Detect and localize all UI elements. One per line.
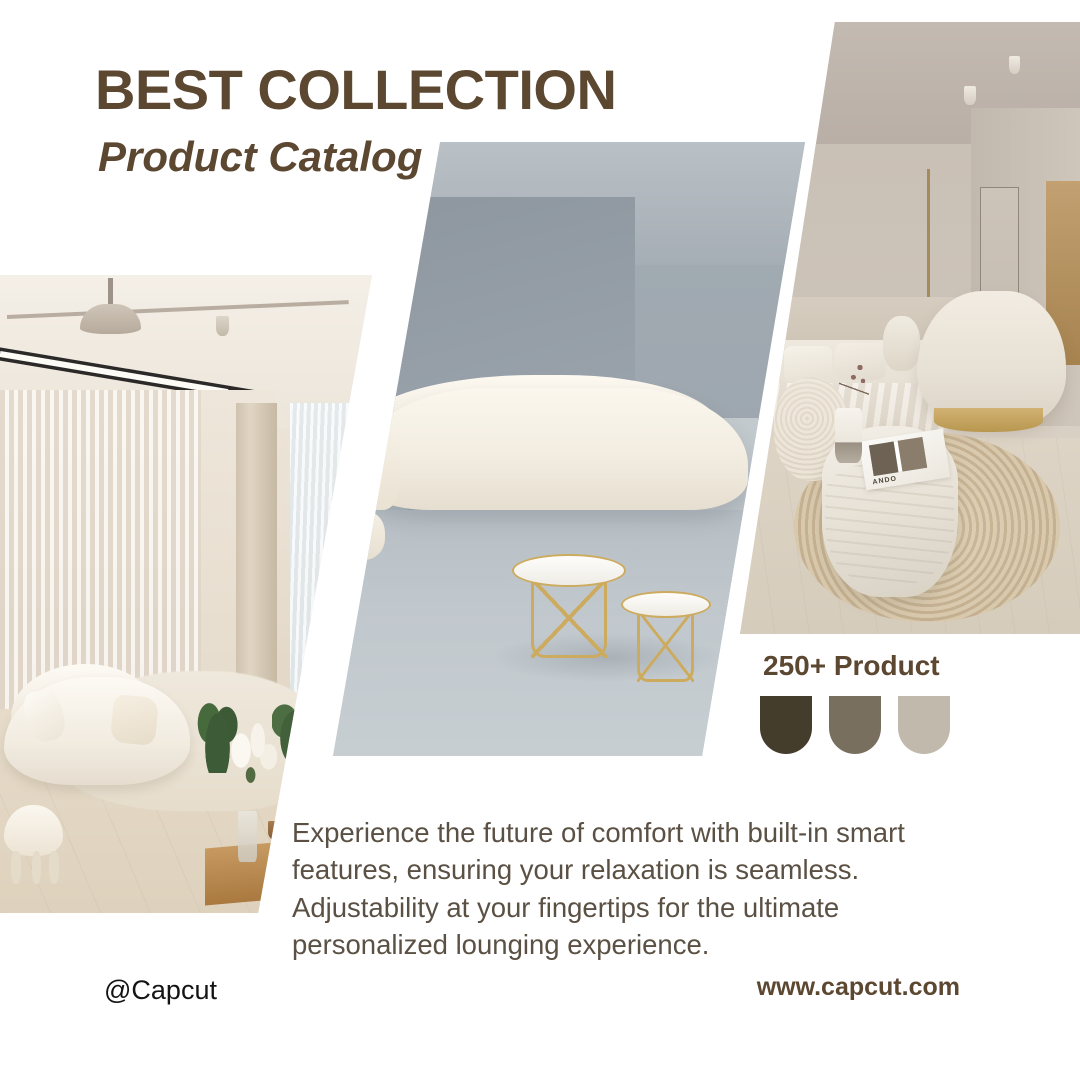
sofa-armrest: [342, 424, 399, 510]
swatch-greige[interactable]: [898, 696, 950, 754]
ceiling-spotlight: [1009, 56, 1021, 74]
product-stats-block: 250+ Product: [760, 650, 950, 754]
bedroom-photo: ANDO: [740, 22, 1080, 634]
studio-scene: [333, 142, 805, 756]
nesting-table-large-top: [512, 554, 625, 587]
ceramic-vase: [835, 408, 862, 463]
studio-sofa-photo: [333, 142, 805, 756]
studio-sofa-photo-inner: [333, 142, 805, 756]
swatch-taupe[interactable]: [829, 696, 881, 754]
page-title: BEST COLLECTION: [95, 62, 616, 118]
stool-leg: [49, 851, 59, 884]
armchair-gold-base: [934, 408, 1043, 432]
bedroom-photo-inner: ANDO: [740, 22, 1080, 634]
nesting-table-large-cross-brace: [531, 578, 607, 658]
social-handle: @Capcut: [104, 975, 217, 1006]
product-count-label: 250+ Product: [763, 650, 950, 682]
description-paragraph: Experience the future of comfort with bu…: [292, 814, 964, 964]
nesting-table-small-top: [621, 591, 711, 618]
color-swatch-row: [760, 696, 950, 754]
glass-vase: [238, 811, 257, 862]
pendant-rod: [108, 278, 113, 307]
stool-leg: [32, 851, 42, 884]
curved-cream-sofa: [352, 388, 748, 511]
round-pouf: [338, 510, 385, 559]
swatch-dark-brown[interactable]: [760, 696, 812, 754]
stool-leg: [11, 851, 21, 884]
boucle-armchair: [917, 291, 1067, 426]
terracotta-pot: [286, 763, 308, 795]
sofa-cushion-right: [109, 694, 158, 746]
ceiling-spotlight: [216, 316, 229, 336]
nesting-table-small-cross-brace: [637, 609, 694, 683]
ceiling-spotlight: [964, 86, 976, 104]
lily-bouquet: [223, 722, 283, 824]
poster-canvas: ANDO BEST COLLECTION Product Catalog 250…: [0, 0, 1080, 1080]
website-url[interactable]: www.capcut.com: [757, 973, 960, 1002]
page-subtitle: Product Catalog: [98, 136, 422, 178]
small-side-stool: [883, 316, 920, 371]
bedroom-scene: ANDO: [740, 22, 1080, 634]
